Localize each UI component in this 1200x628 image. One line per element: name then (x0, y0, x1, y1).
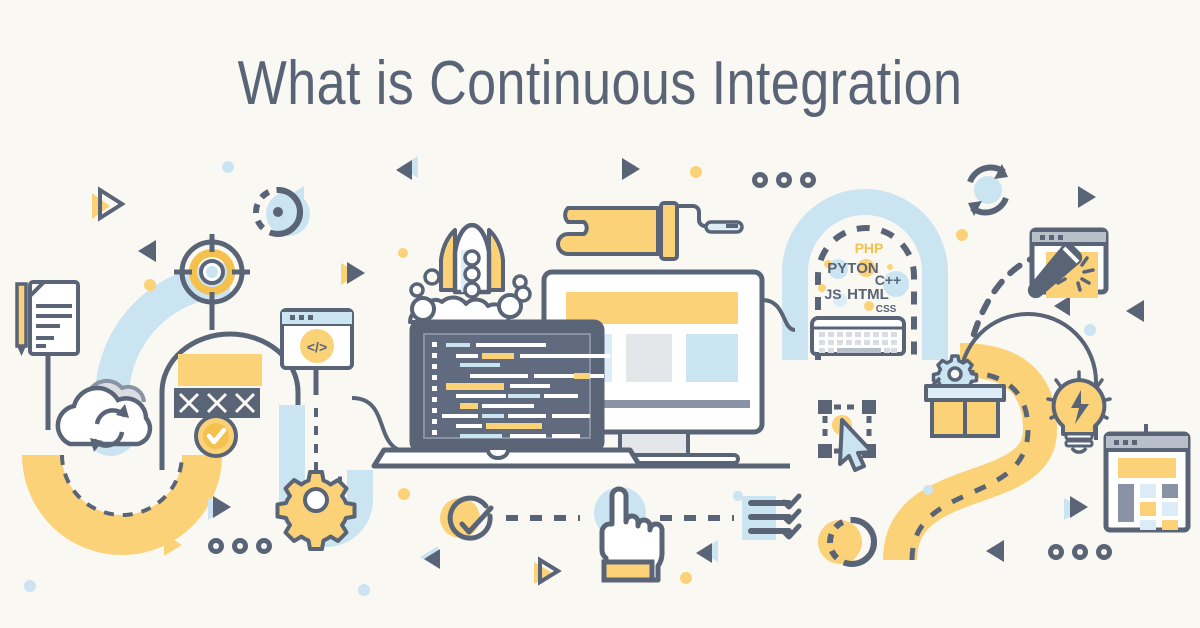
selection-cursor-icon (818, 400, 876, 470)
pointing-hand-cursor-icon (594, 487, 662, 580)
decor-triangle-yellow-1 (92, 190, 122, 219)
lang-js: JS (824, 286, 841, 302)
decor-triangle-slate-6 (986, 540, 1004, 562)
timer-circle-icon (818, 520, 874, 564)
decor-triangle-slate-1 (138, 240, 156, 262)
decor-donut-dots-top (752, 172, 816, 188)
decor-triangle-slate-4 (1126, 300, 1144, 322)
dashboard-window-icon[interactable] (1106, 424, 1188, 530)
decor-triangle-slate-5 (1054, 296, 1070, 316)
rocket-launch-icon (410, 225, 530, 322)
checklist-icon (742, 496, 799, 540)
keyboard-icon (812, 318, 904, 354)
decor-triangle-slate-3 (1078, 186, 1096, 208)
illustration-canvas: What is Continuous Integration (0, 0, 1200, 628)
paint-roller-icon (558, 203, 742, 259)
wireframe-blocks-icon (176, 354, 262, 422)
decor-triangle-blue-5 (1064, 496, 1088, 520)
lang-html: HTML (847, 286, 889, 303)
lang-css: CSS (876, 304, 897, 315)
code-window-icon[interactable]: </> (282, 310, 352, 368)
decor-donut-dots-bottom-left (208, 538, 272, 554)
decor-donut-dots-bottom-right (1048, 544, 1112, 560)
decor-triangle-yellow-2 (341, 262, 365, 285)
slate-connector-laptop (352, 398, 410, 452)
check-circle-icon-left (196, 416, 236, 456)
refresh-sync-icon (968, 164, 1008, 216)
decor-triangle-blue-3 (420, 546, 440, 569)
lightbulb-idea-icon (1048, 372, 1110, 452)
document-with-pencil-icon (17, 282, 78, 356)
decor-triangle-blue-1 (396, 156, 418, 180)
gear-icon[interactable] (278, 472, 355, 549)
magic-wand-window-icon[interactable] (1028, 230, 1106, 298)
code-window-symbol: </> (307, 339, 327, 355)
lang-pyton: PYTON (827, 260, 878, 277)
check-circle-icon-bottom (440, 498, 491, 538)
yellow-arc-bottom-left (42, 455, 202, 535)
decor-triangle-blue-4 (696, 540, 718, 563)
cloud-sync-icon (58, 381, 150, 456)
continuous-integration-illustration: </> (0, 0, 1200, 628)
decor-triangle-slate-2 (622, 158, 640, 180)
programming-languages-cloud: PHP PYTON C++ JS HTML CSS (818, 240, 909, 315)
lang-php: PHP (855, 240, 884, 256)
decor-triangle-yellow-4 (534, 560, 558, 584)
